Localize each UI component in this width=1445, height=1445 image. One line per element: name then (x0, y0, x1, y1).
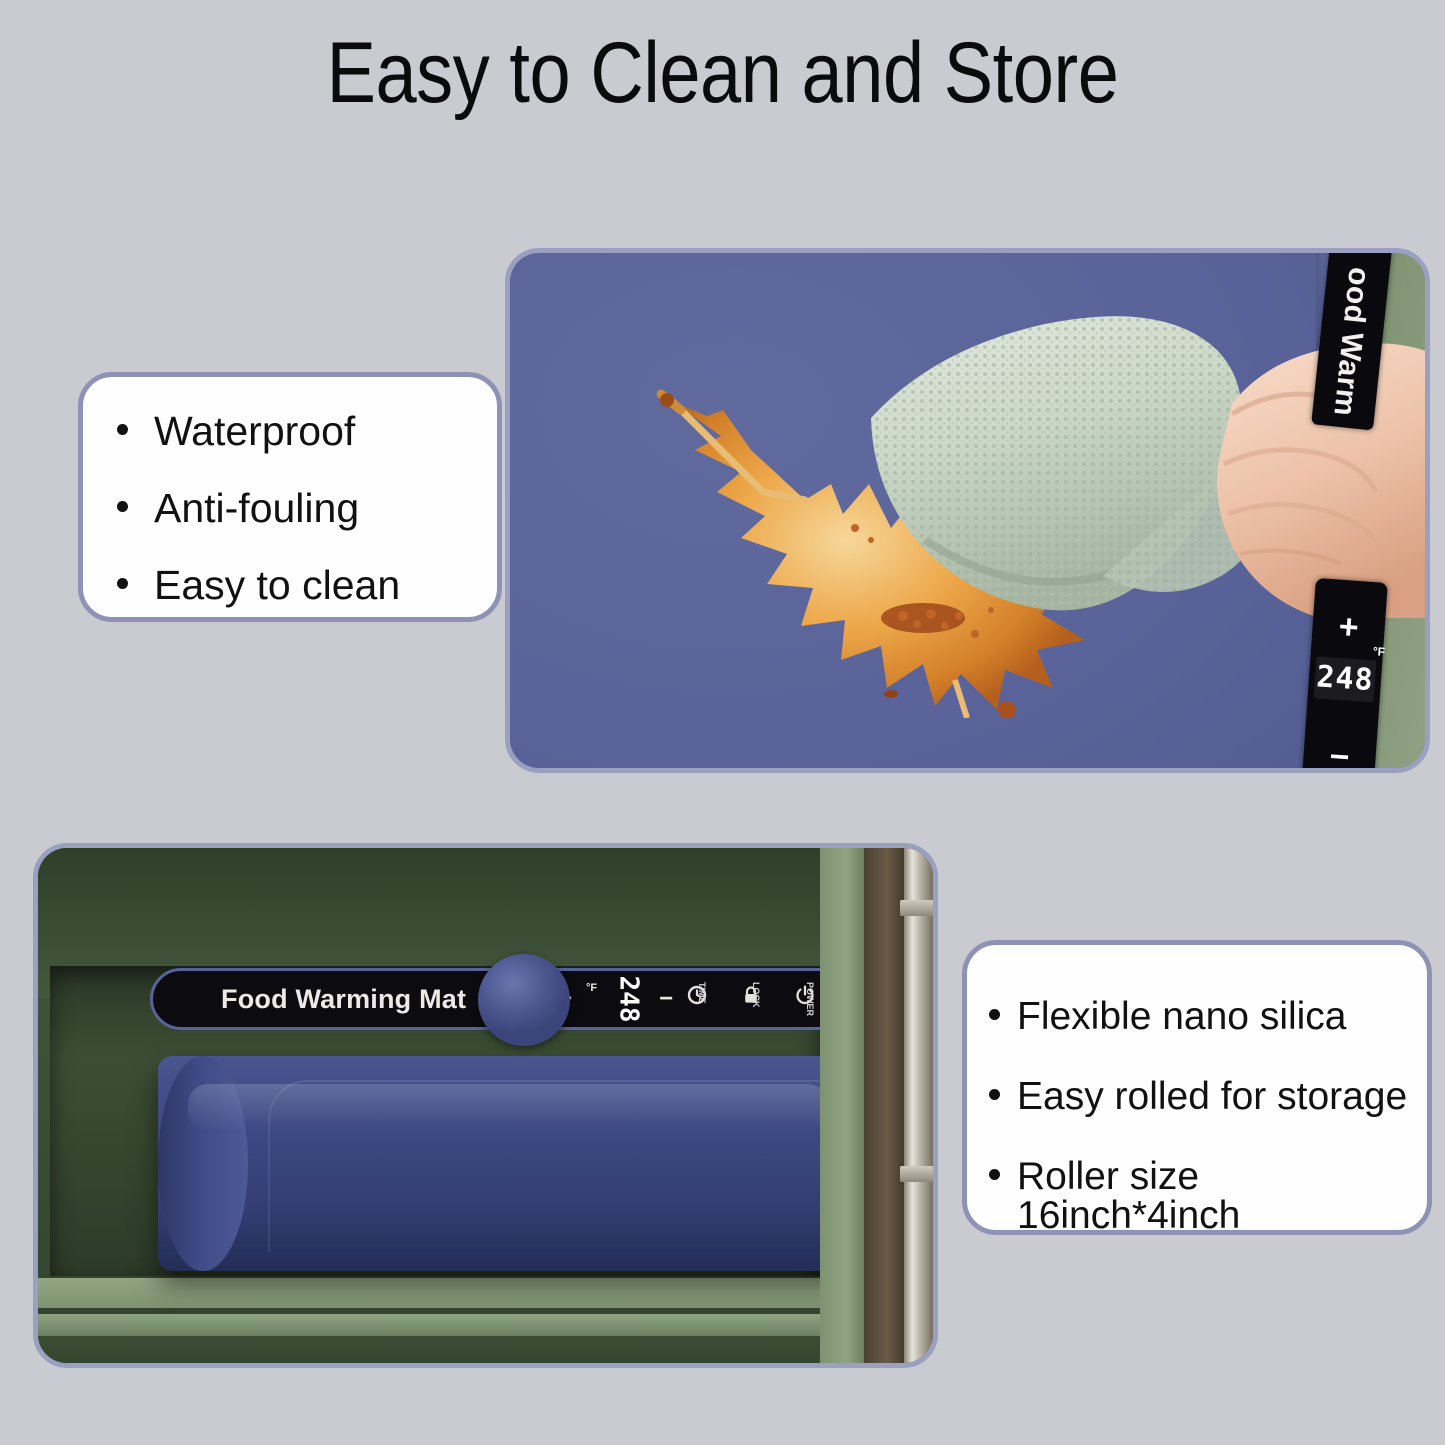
bullet-icon (989, 1169, 1000, 1180)
cabinet-shelf-lower (38, 1314, 828, 1336)
door-handle[interactable] (904, 848, 934, 1363)
list-item: Easy rolled for storage (989, 1077, 1427, 1116)
door-hinge-bottom (900, 1166, 938, 1182)
rolled-mat-highlight (188, 1084, 828, 1132)
hand (1170, 318, 1430, 648)
clean-features-list: Waterproof Anti-fouling Easy to clean (117, 411, 497, 606)
list-item: Flexible nano silica (989, 997, 1427, 1036)
list-item: Roller size 16inch*4inch (989, 1157, 1427, 1235)
temperature-value: 248 (613, 976, 643, 1023)
feature-text: Flexible nano silica (1017, 997, 1347, 1036)
mat-roller-knob[interactable] (478, 954, 570, 1046)
storage-features-callout: Flexible nano silica Easy rolled for sto… (962, 940, 1432, 1235)
list-item: Easy to clean (117, 565, 497, 606)
wiping-spill-photo: ood Warm + 248 °F − (505, 248, 1430, 773)
storage-features-list: Flexible nano silica Easy rolled for sto… (989, 997, 1427, 1235)
list-item: Waterproof (117, 411, 497, 452)
list-item: Anti-fouling (117, 488, 497, 529)
bullet-icon (989, 1009, 1000, 1020)
cabinet-shelf (38, 1278, 828, 1308)
rolled-mat-in-cabinet-photo: Food Warming Mat + °F 248 − TIME (33, 843, 938, 1368)
time-button-label: TIME (697, 982, 707, 1004)
door-hinge-top (900, 900, 938, 916)
feature-text: Waterproof (154, 411, 355, 452)
temperature-display: 248 (611, 977, 645, 1021)
feature-text: Easy rolled for storage (1017, 1077, 1407, 1116)
temperature-display: 248 (1314, 656, 1377, 702)
clean-features-callout: Waterproof Anti-fouling Easy to clean (78, 372, 502, 622)
door-jamb (820, 848, 864, 1363)
page-title: Easy to Clean and Store (101, 28, 1344, 118)
bullet-icon (989, 1089, 1000, 1100)
decrease-temp-button[interactable]: − (659, 985, 673, 1013)
time-button[interactable]: TIME (687, 976, 727, 1022)
lock-button[interactable]: LOCK (741, 976, 781, 1022)
bullet-icon (117, 578, 128, 589)
temperature-value: 248 (1315, 662, 1374, 696)
product-label-text: Food Warming Mat (221, 984, 466, 1015)
door-outer-edge (934, 848, 938, 1363)
lock-button-label: LOCK (751, 982, 761, 1008)
feature-text: Roller size 16inch*4inch (1017, 1157, 1427, 1235)
bottom-control-panel[interactable]: + °F 248 − TIME (558, 968, 848, 1030)
door-edge-dark (864, 848, 906, 1363)
feature-text: Easy to clean (154, 565, 400, 606)
temperature-unit: °F (1372, 644, 1385, 659)
control-panel[interactable]: + 248 °F − (1301, 578, 1388, 773)
feature-text: Anti-fouling (154, 488, 359, 529)
bullet-icon (117, 424, 128, 435)
bullet-icon (117, 501, 128, 512)
brand-label-text: ood Warm (1326, 265, 1375, 417)
cabinet-base (38, 1336, 828, 1368)
power-button-label: POWER (805, 982, 815, 1016)
infographic-canvas: Easy to Clean and Store (0, 0, 1445, 1445)
temperature-unit: °F (586, 982, 597, 994)
bottom-photo-scene: Food Warming Mat + °F 248 − TIME (38, 848, 933, 1363)
top-photo-scene: ood Warm + 248 °F − (510, 253, 1425, 768)
decrease-temp-button[interactable]: − (1302, 738, 1376, 773)
increase-temp-button[interactable]: + (1312, 608, 1386, 647)
